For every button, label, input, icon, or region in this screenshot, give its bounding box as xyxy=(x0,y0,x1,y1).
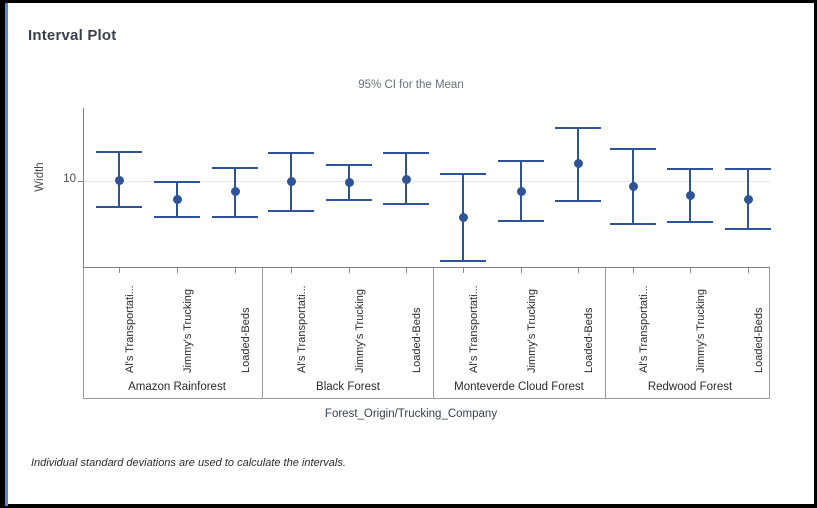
x-tick-label: Jimmy's Trucking xyxy=(695,289,707,373)
mean-marker[interactable] xyxy=(231,187,240,196)
interval-upper-cap xyxy=(610,148,656,150)
x-tick-label: Loaded-Beds xyxy=(583,308,595,373)
x-tick-label: Al's Transportati... xyxy=(638,285,650,373)
x-tick-label: Jimmy's Trucking xyxy=(182,289,194,373)
y-tick-label: 10 xyxy=(44,173,76,185)
interval-upper-cap xyxy=(440,173,486,175)
mean-marker[interactable] xyxy=(629,182,638,191)
y-axis-label: Width xyxy=(34,137,46,217)
mean-marker[interactable] xyxy=(115,176,124,185)
mean-marker[interactable] xyxy=(744,195,753,204)
interval-lower-cap xyxy=(212,216,258,218)
mean-marker[interactable] xyxy=(459,213,468,222)
group-label: Redwood Forest xyxy=(580,381,800,393)
interval-lower-cap xyxy=(326,199,372,201)
interval-lower-cap xyxy=(96,206,142,208)
chart-card: Interval Plot 95% CI for the Mean 10 Wid… xyxy=(8,3,814,504)
interval-lower-cap xyxy=(383,203,429,205)
x-axis-tick xyxy=(177,268,178,273)
interval-upper-cap xyxy=(326,164,372,166)
x-axis-label: Forest_Origin/Trucking_Company xyxy=(8,408,814,420)
x-axis-tick xyxy=(463,268,464,273)
x-axis-tick xyxy=(690,268,691,273)
interval-lower-cap xyxy=(667,221,713,223)
y-axis-tick xyxy=(78,181,84,182)
x-axis-tick xyxy=(748,268,749,273)
interval-lower-cap xyxy=(440,260,486,262)
x-axis-tick xyxy=(633,268,634,273)
x-axis-tick xyxy=(235,268,236,273)
x-axis-tick xyxy=(406,268,407,273)
interval-lower-cap xyxy=(555,200,601,202)
y-axis-line xyxy=(83,108,84,267)
mean-marker[interactable] xyxy=(574,159,583,168)
screenshot-frame: Interval Plot 95% CI for the Mean 10 Wid… xyxy=(0,0,817,508)
x-axis-tick xyxy=(119,268,120,273)
x-axis-tick xyxy=(521,268,522,273)
interval-upper-cap xyxy=(212,167,258,169)
x-axis-tick xyxy=(349,268,350,273)
interval-upper-cap xyxy=(96,151,142,153)
x-tick-label: Jimmy's Trucking xyxy=(354,289,366,373)
plot-panel: 10 Width Al's Transportati...Jimmy's Tru… xyxy=(8,3,814,504)
interval-upper-cap xyxy=(498,160,544,162)
x-tick-label: Loaded-Beds xyxy=(753,308,765,373)
x-tick-label: Al's Transportati... xyxy=(468,285,480,373)
interval-lower-cap xyxy=(610,223,656,225)
interval-upper-cap xyxy=(555,127,601,129)
x-axis-tick xyxy=(578,268,579,273)
interval-lower-cap xyxy=(498,220,544,222)
x-tick-label: Al's Transportati... xyxy=(124,285,136,373)
mean-marker[interactable] xyxy=(402,175,411,184)
x-tick-label: Loaded-Beds xyxy=(240,308,252,373)
interval-upper-cap xyxy=(154,181,200,183)
interval-upper-cap xyxy=(725,168,771,170)
x-tick-label: Jimmy's Trucking xyxy=(526,289,538,373)
group-separator xyxy=(262,268,263,399)
x-tick-label: Al's Transportati... xyxy=(296,285,308,373)
x-axis-tick xyxy=(291,268,292,273)
chart-footnote: Individual standard deviations are used … xyxy=(31,457,346,469)
group-separator xyxy=(605,268,606,399)
interval-lower-cap xyxy=(268,210,314,212)
interval-lower-cap xyxy=(154,216,200,218)
interval-upper-cap xyxy=(667,168,713,170)
interval-upper-cap xyxy=(268,152,314,154)
interval-upper-cap xyxy=(383,152,429,154)
x-tick-label: Loaded-Beds xyxy=(411,308,423,373)
mean-marker[interactable] xyxy=(517,187,526,196)
mean-marker[interactable] xyxy=(287,177,296,186)
mean-marker[interactable] xyxy=(173,195,182,204)
interval-lower-cap xyxy=(725,228,771,230)
mean-marker[interactable] xyxy=(686,191,695,200)
group-separator xyxy=(433,268,434,399)
mean-marker[interactable] xyxy=(345,178,354,187)
